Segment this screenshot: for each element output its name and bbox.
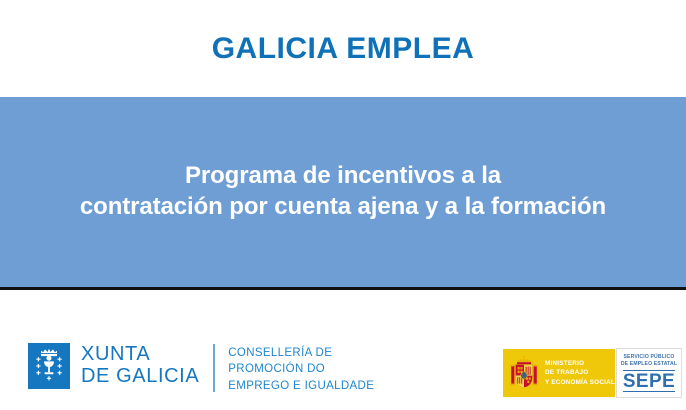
xunta-wordmark: XUNTA DE GALICIA — [81, 342, 199, 388]
ministerio-sepe-logo: MINISTERIO DE TRABAJO Y ECONOMÍA SOCIAL … — [503, 349, 682, 398]
sepe-panel: SERVICIO PÚBLICO DE EMPLEO ESTATAL SEPE — [616, 348, 682, 398]
ministerio-text: MINISTERIO DE TRABAJO Y ECONOMÍA SOCIAL — [545, 359, 615, 387]
page-title: GALICIA EMPLEA — [212, 34, 475, 64]
conselleria-name: CONSELLERÍA DE PROMOCIÓN DO EMPREGO E IG… — [228, 342, 374, 394]
footer-logo-bar: XUNTA DE GALICIA CONSELLERÍA DE PROMOCIÓ… — [0, 290, 686, 410]
program-banner: Programa de incentivos a la contratación… — [0, 97, 686, 287]
ministerio-line-2: DE TRABAJO — [545, 368, 615, 377]
xunta-de-galicia-logo: XUNTA DE GALICIA CONSELLERÍA DE PROMOCIÓ… — [28, 342, 374, 394]
spain-coat-of-arms-icon — [509, 355, 539, 391]
header-area: GALICIA EMPLEA — [0, 0, 686, 97]
ministerio-panel: MINISTERIO DE TRABAJO Y ECONOMÍA SOCIAL — [503, 349, 615, 397]
sepe-tagline: SERVICIO PÚBLICO DE EMPLEO ESTATAL — [621, 354, 677, 369]
galicia-coat-of-arms-icon — [28, 343, 70, 389]
ministerio-line-1: MINISTERIO — [545, 359, 615, 368]
conselleria-line-2: PROMOCIÓN DO — [228, 361, 374, 377]
conselleria-line-1: CONSELLERÍA DE — [228, 345, 374, 361]
banner-title-line-2: contratación por cuenta ajena y a la for… — [80, 192, 606, 223]
xunta-wordmark-line-2: DE GALICIA — [81, 365, 199, 387]
sepe-tagline-line-1: SERVICIO PÚBLICO — [621, 354, 677, 361]
banner-title-line-1: Programa de incentivos a la — [185, 161, 501, 192]
logo-divider — [213, 344, 215, 392]
sepe-tagline-line-2: DE EMPLEO ESTATAL — [621, 361, 677, 368]
xunta-wordmark-line-1: XUNTA — [81, 343, 199, 365]
ministerio-line-3: Y ECONOMÍA SOCIAL — [545, 378, 615, 387]
conselleria-line-3: EMPREGO E IGUALDADE — [228, 378, 374, 394]
sepe-wordmark: SEPE — [623, 370, 675, 392]
